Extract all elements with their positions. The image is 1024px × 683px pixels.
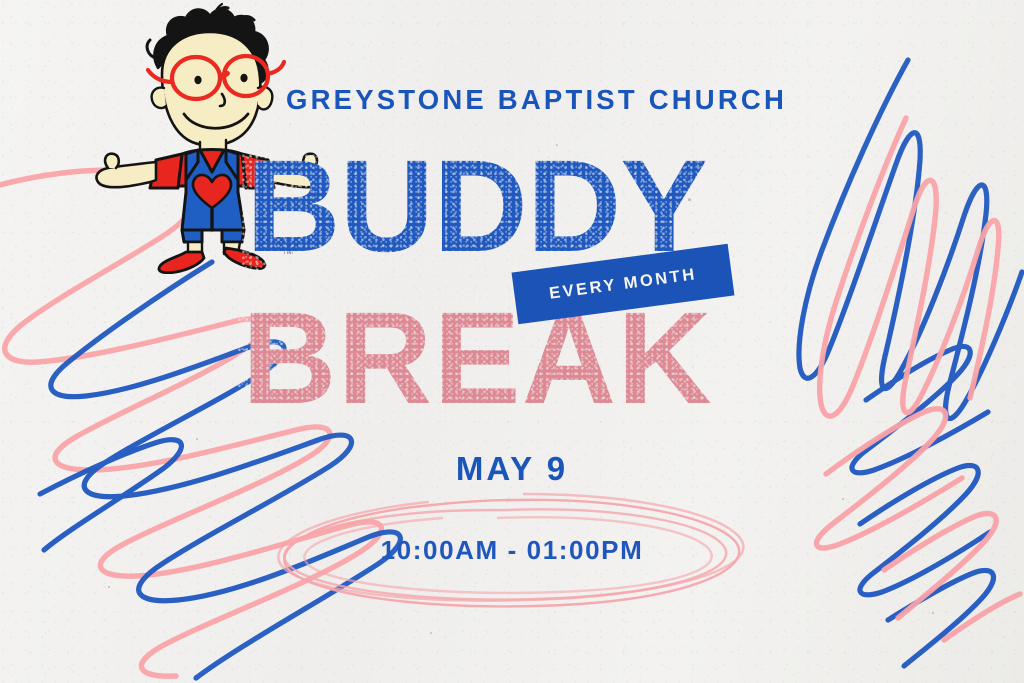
paper-speck bbox=[108, 586, 110, 588]
title-line-break: BREAK bbox=[242, 292, 713, 423]
every-month-banner-label: EVERY MONTH bbox=[548, 265, 698, 304]
title-line-buddy-text: BUDDY bbox=[246, 140, 707, 271]
title-line-buddy: BUDDY bbox=[246, 140, 707, 271]
paper-speck bbox=[430, 632, 432, 634]
event-time: 10:00AM - 01:00PM bbox=[0, 535, 1024, 566]
church-name: GREYSTONE BAPTIST CHURCH bbox=[286, 84, 787, 116]
right-blue-scribble bbox=[799, 60, 1022, 666]
event-date: MAY 9 bbox=[0, 450, 1024, 488]
paper-speck bbox=[932, 612, 934, 614]
paper-speck bbox=[196, 438, 198, 440]
title-line-break-text: BREAK bbox=[242, 292, 713, 423]
event-flyer-poster: TM GREYSTONE BAPTIST CHURCH BUDDY BREAK … bbox=[0, 0, 1024, 683]
paper-speck bbox=[842, 498, 844, 500]
